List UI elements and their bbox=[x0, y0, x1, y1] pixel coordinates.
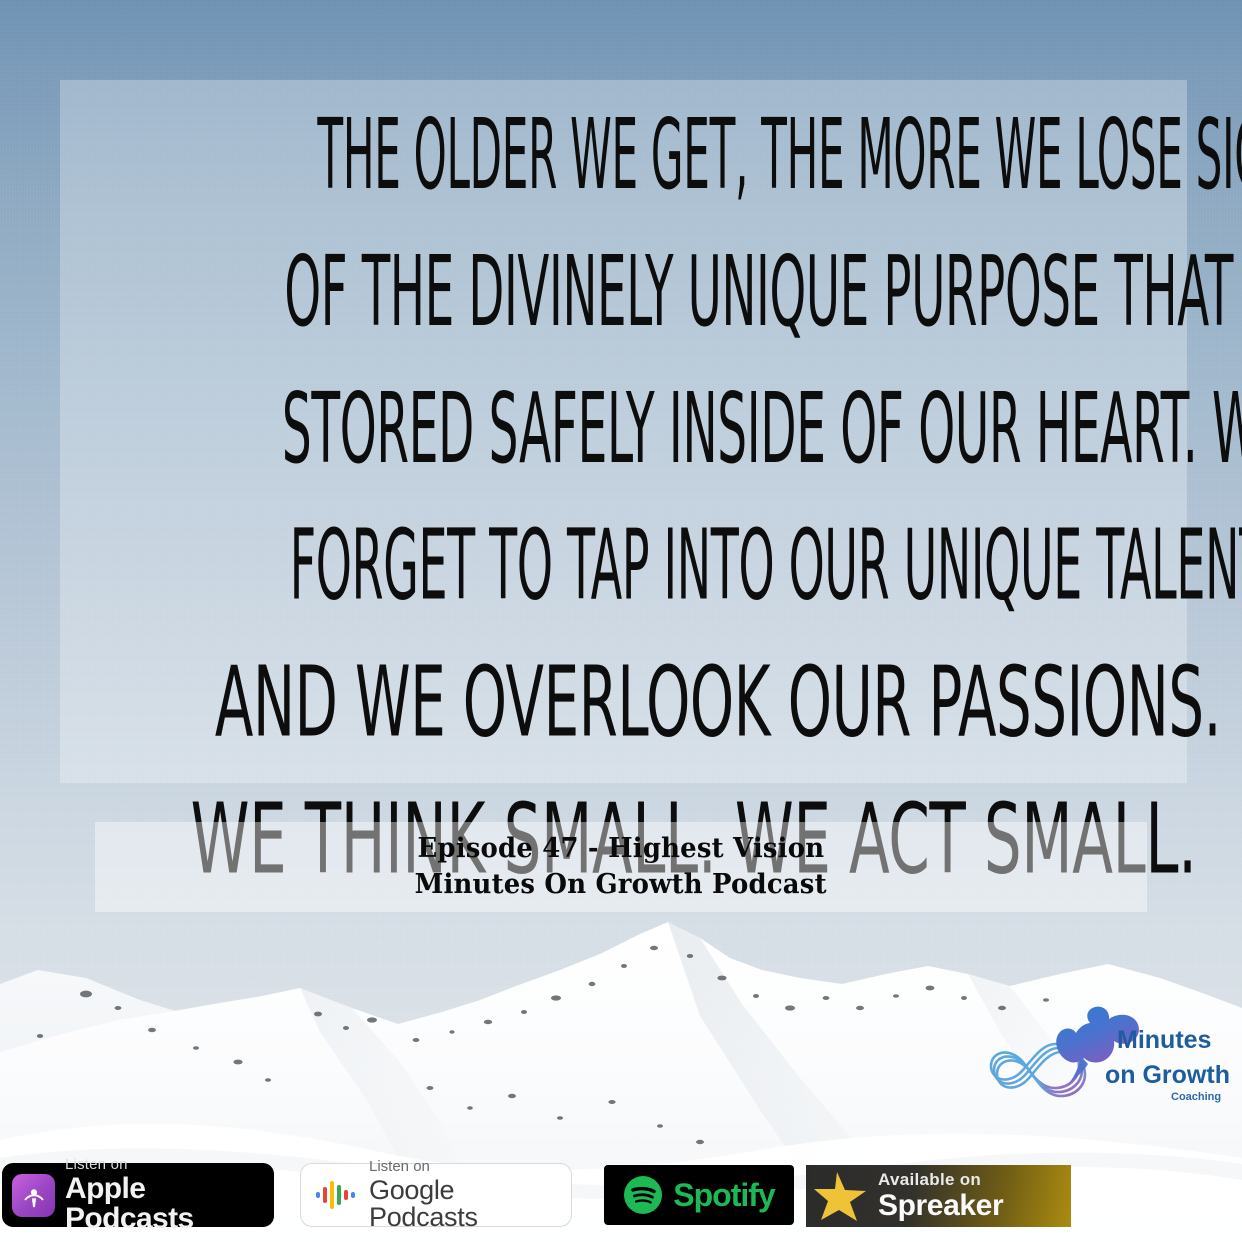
brand-name-line1: Minutes bbox=[1117, 1026, 1211, 1054]
spotify-icon bbox=[623, 1175, 663, 1215]
quote-line-5: and we overlook our passions. bbox=[215, 634, 1032, 771]
quote-line-4: forget to tap into our unique talents bbox=[290, 497, 958, 634]
quote-line-1: The older we get, the more we lose sight bbox=[317, 86, 929, 223]
spreaker-badge-large-text: Spreaker bbox=[878, 1191, 1003, 1221]
google-podcasts-icon bbox=[315, 1178, 357, 1212]
badge-google-podcasts[interactable]: Listen on Google Podcasts bbox=[300, 1163, 572, 1227]
podcast-platform-badges: Listen on Apple Podcasts Listen on Googl… bbox=[0, 1155, 1242, 1242]
google-badge-large-text: Google Podcasts bbox=[369, 1177, 559, 1231]
podcast-show-name: Minutes On Growth Podcast bbox=[415, 867, 827, 903]
spotify-badge-text: Spotify bbox=[673, 1177, 774, 1214]
quote-text: The older we get, the more we lose sight… bbox=[118, 86, 1129, 907]
quote-overlay-panel: The older we get, the more we lose sight… bbox=[60, 80, 1187, 783]
brand-name-line2: on Growth bbox=[1105, 1061, 1230, 1089]
apple-badge-small-text: Listen on bbox=[65, 1157, 262, 1172]
episode-info-panel: Episode 47 - Highest Vision Minutes On G… bbox=[95, 822, 1147, 912]
google-badge-small-text: Listen on bbox=[369, 1159, 559, 1174]
badge-spreaker[interactable]: Available on Spreaker bbox=[806, 1165, 1071, 1227]
spreaker-badge-small-text: Available on bbox=[878, 1171, 1003, 1188]
apple-badge-large-text: Apple Podcasts bbox=[65, 1174, 262, 1234]
quote-line-2: of the divinely unique purpose that is bbox=[284, 223, 962, 360]
minutes-on-growth-logo: Minutes on Growth Coaching bbox=[985, 1000, 1235, 1112]
podcast-quote-poster: The older we get, the more we lose sight… bbox=[0, 0, 1242, 1242]
brand-tagline: Coaching bbox=[1171, 1091, 1221, 1103]
episode-title: Episode 47 - Highest Vision bbox=[418, 831, 825, 867]
badge-spotify[interactable]: Spotify bbox=[604, 1165, 794, 1225]
star-icon bbox=[812, 1169, 870, 1223]
quote-line-3: stored safely inside of our heart. We bbox=[282, 360, 965, 497]
badge-apple-podcasts[interactable]: Listen on Apple Podcasts bbox=[2, 1163, 274, 1227]
apple-podcasts-icon bbox=[12, 1174, 55, 1217]
